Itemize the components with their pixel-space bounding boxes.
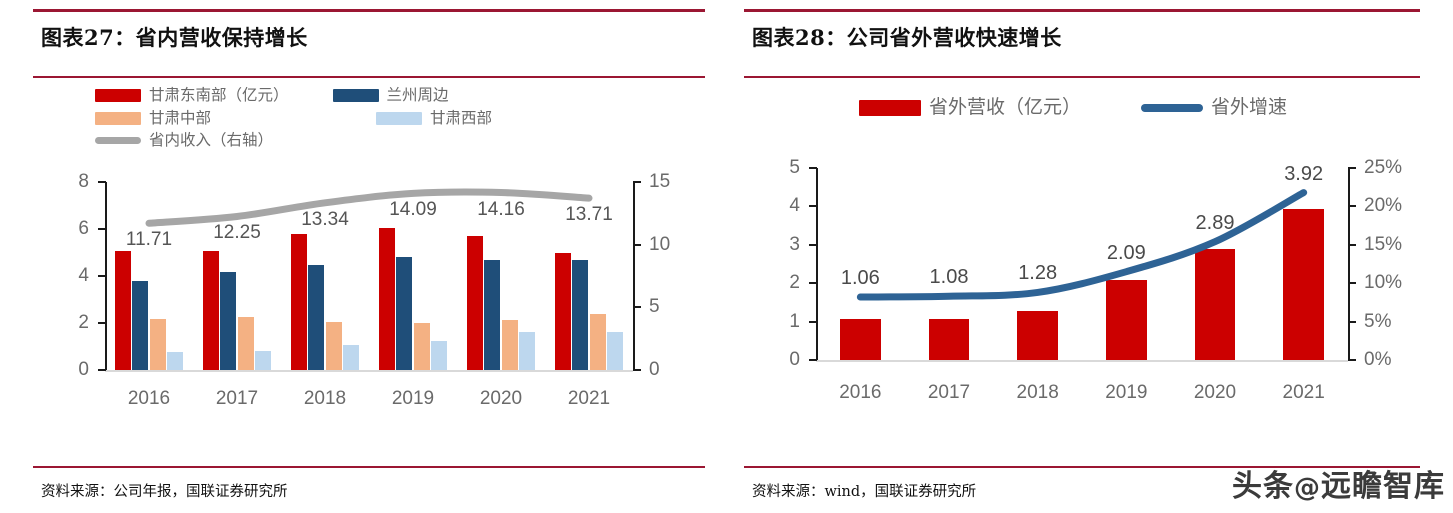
watermark-at: @	[1294, 473, 1321, 503]
line-省外增速	[860, 193, 1303, 297]
legend-label-southeast-gansu: 甘肃东南部（亿元）	[149, 88, 289, 104]
figure-panel-28: 图表28：公司省外营收快速增长 省外营收（亿元） 省外增速 0123450%5%…	[744, 0, 1420, 513]
header-rule-bottom	[33, 76, 705, 78]
legend-swatch-west-gansu	[376, 112, 422, 125]
figure-page: 图表27：省内营收保持增长 甘肃东南部（亿元） 兰州周边 甘肃中部	[0, 0, 1453, 513]
data-label-省内收入（右轴）-2019: 14.09	[389, 199, 437, 221]
legend-swatch-province-revenue	[95, 137, 141, 144]
plot-area-chart-28: 0123450%5%10%15%20%25%201620172018201920…	[744, 150, 1420, 415]
legend-row-28: 省外营收（亿元） 省外增速	[859, 98, 1287, 117]
legend-swatch-lanzhou	[333, 89, 379, 102]
legend-row-1: 甘肃东南部（亿元） 兰州周边	[95, 88, 492, 104]
legend-row-2: 甘肃中部 甘肃西部	[95, 111, 492, 127]
figure-panel-27: 图表27：省内营收保持增长 甘肃东南部（亿元） 兰州周边 甘肃中部	[33, 0, 705, 513]
legend-item-province-revenue: 省内收入（右轴）	[95, 133, 273, 149]
header-rule-bottom-28	[744, 76, 1420, 78]
legend-item-lanzhou: 兰州周边	[333, 88, 449, 104]
data-label-省内收入（右轴）-2018: 13.34	[301, 209, 349, 231]
page-title-28: 图表28：公司省外营收快速增长	[752, 22, 1062, 52]
figure-header-27: 图表27：省内营收保持增长	[33, 0, 705, 80]
data-label-省内收入（右轴）-2017: 12.25	[213, 222, 261, 244]
line-series-layer	[744, 150, 1420, 415]
legend-chart-27: 甘肃东南部（亿元） 兰州周边 甘肃中部 甘肃西部	[95, 88, 492, 156]
legend-item-central-gansu: 甘肃中部	[95, 111, 211, 127]
data-label-省内收入（右轴）-2021: 13.71	[565, 204, 613, 226]
legend-label-outprovince-revenue: 省外营收（亿元）	[929, 98, 1081, 117]
header-rule-top-28	[744, 9, 1420, 12]
watermark-brand: 头条	[1232, 469, 1294, 504]
legend-swatch-southeast-gansu	[95, 89, 141, 102]
legend-row-3: 省内收入（右轴）	[95, 133, 492, 149]
legend-swatch-outprovince-growth	[1141, 104, 1203, 112]
header-rule-top	[33, 9, 705, 12]
legend-label-province-revenue: 省内收入（右轴）	[149, 133, 273, 149]
data-label-省内收入（右轴）-2020: 14.16	[477, 199, 525, 221]
legend-label-lanzhou: 兰州周边	[387, 88, 449, 104]
legend-swatch-central-gansu	[95, 112, 141, 125]
legend-chart-28: 省外营收（亿元） 省外增速	[859, 98, 1287, 124]
legend-swatch-outprovince-revenue	[859, 100, 921, 116]
legend-item-outprovince-growth: 省外增速	[1141, 98, 1287, 117]
plot-area-chart-27: 0246805101520162017201820192020202111.71…	[33, 160, 705, 418]
watermark: 头条@远瞻智库	[1232, 461, 1445, 505]
legend-label-west-gansu: 甘肃西部	[430, 111, 492, 127]
figure-header-28: 图表28：公司省外营收快速增长	[744, 0, 1420, 80]
legend-label-central-gansu: 甘肃中部	[149, 111, 211, 127]
data-label-省内收入（右轴）-2016: 11.71	[126, 229, 172, 251]
page-title-27: 图表27：省内营收保持增长	[41, 22, 308, 52]
legend-label-outprovince-growth: 省外增速	[1211, 98, 1287, 117]
legend-item-west-gansu: 甘肃西部	[376, 111, 492, 127]
watermark-name: 远瞻智库	[1321, 469, 1445, 504]
line-series-layer	[33, 160, 705, 418]
legend-item-southeast-gansu: 甘肃东南部（亿元）	[95, 88, 289, 104]
legend-item-outprovince-revenue: 省外营收（亿元）	[859, 98, 1081, 117]
